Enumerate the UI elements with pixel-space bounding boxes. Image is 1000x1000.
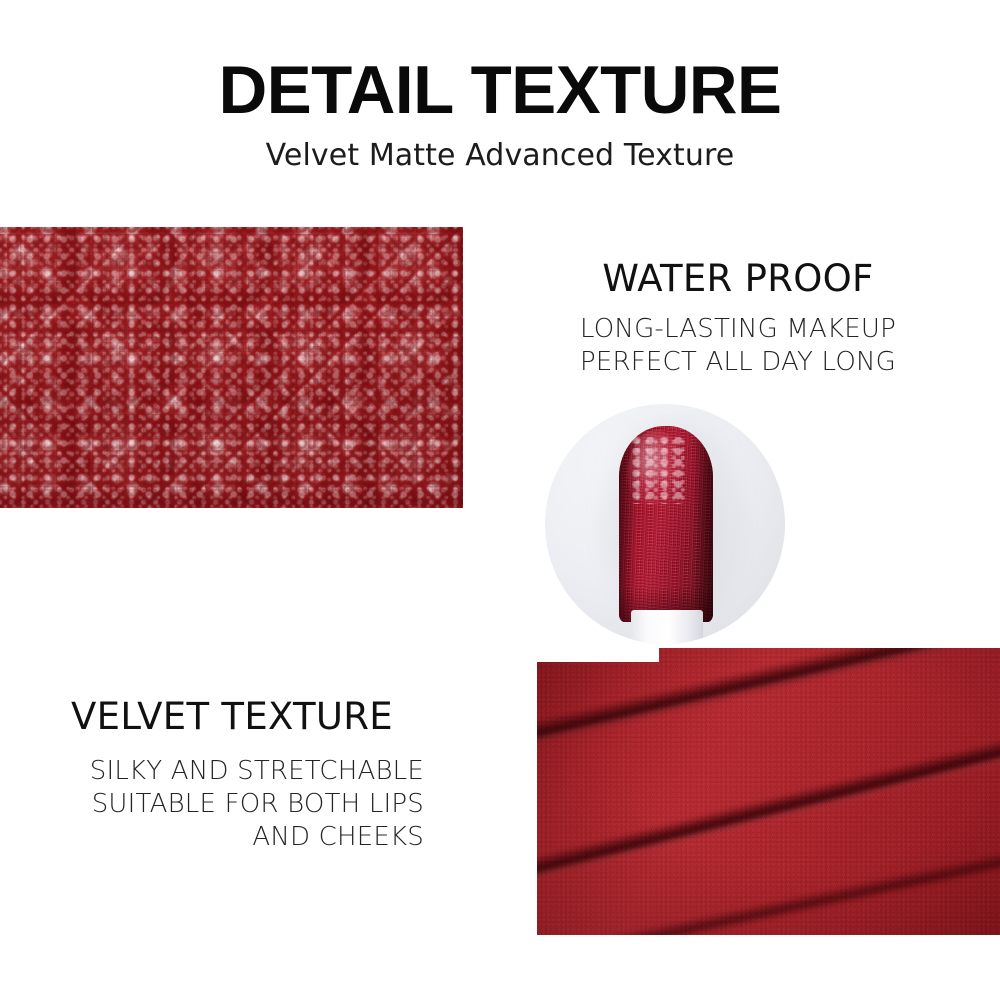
swatch-top-left-notch [537, 648, 659, 662]
water-proof-body-line-1: LONG-LASTING MAKEUP [538, 313, 938, 346]
lipstick-tube-base [631, 610, 703, 644]
droplets-grain-overlay [0, 227, 463, 508]
velvet-texture-body-line-3: AND CHEEKS [40, 821, 424, 854]
header-block: DETAIL TEXTURE Velvet Matte Advanced Tex… [0, 56, 1000, 172]
water-proof-heading: WATER PROOF [538, 260, 938, 299]
lipstick-bullet-image [545, 404, 785, 644]
velvet-texture-body-line-2: SUITABLE FOR BOTH LIPS [40, 788, 424, 821]
water-droplets-image [0, 227, 463, 508]
bullet-edge-shading [619, 426, 713, 623]
product-detail-graphic: DETAIL TEXTURE Velvet Matte Advanced Tex… [0, 0, 1000, 1000]
water-proof-body-line-2: PERFECT ALL DAY LONG [538, 346, 938, 379]
velvet-texture-heading: VELVET TEXTURE [40, 698, 424, 737]
swatch-vignette [537, 648, 1000, 935]
velvet-texture-body: SILKY AND STRETCHABLE SUITABLE FOR BOTH … [40, 755, 424, 855]
velvet-texture-body-line-1: SILKY AND STRETCHABLE [40, 755, 424, 788]
page-title: DETAIL TEXTURE [5, 56, 995, 125]
bullet-body [619, 426, 713, 623]
water-proof-body: LONG-LASTING MAKEUP PERFECT ALL DAY LONG [538, 313, 938, 380]
page-subtitle: Velvet Matte Advanced Texture [0, 139, 1000, 172]
matte-swatch-image [537, 648, 1000, 935]
feature-velvet-texture: VELVET TEXTURE SILKY AND STRETCHABLE SUI… [40, 698, 424, 855]
feature-water-proof: WATER PROOF LONG-LASTING MAKEUP PERFECT … [538, 260, 938, 379]
